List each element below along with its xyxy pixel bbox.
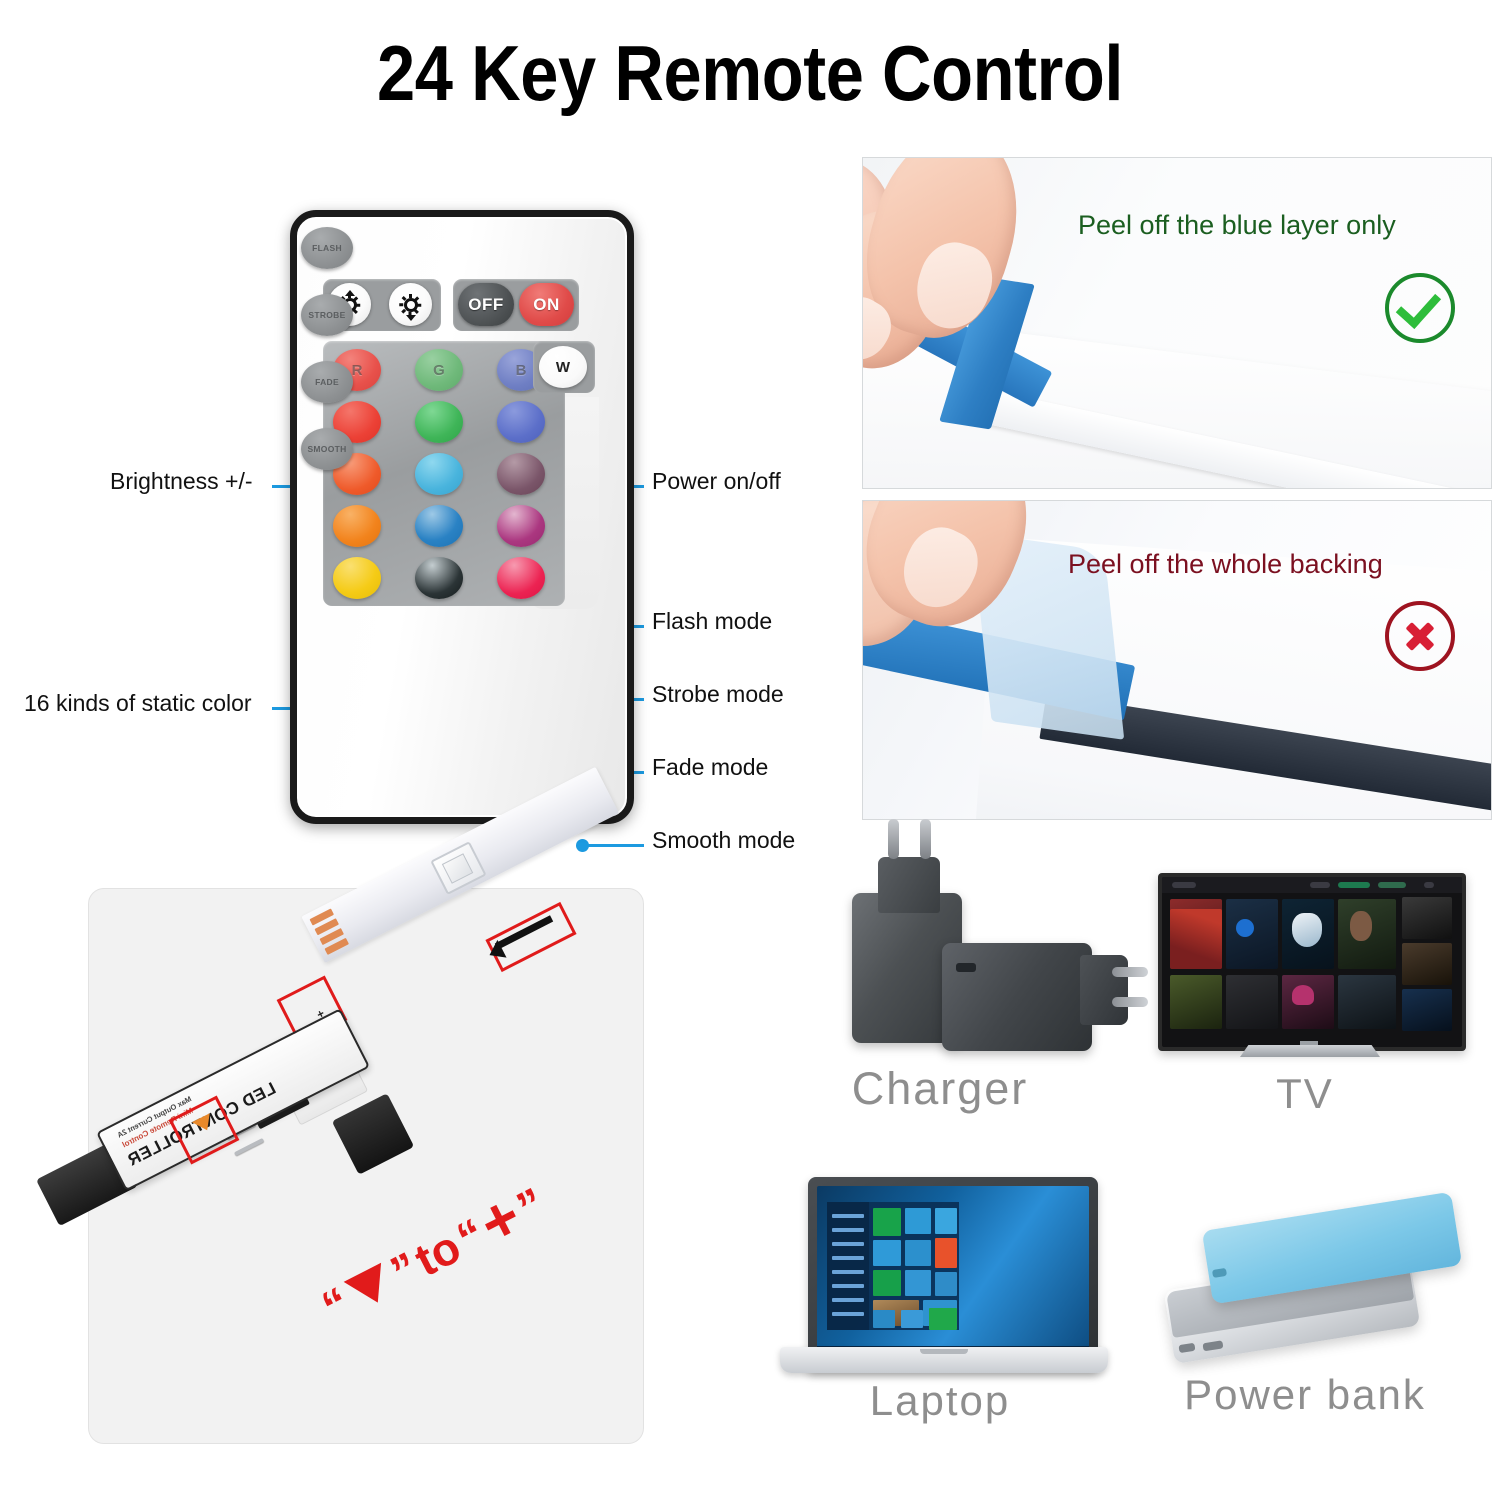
infographic-page: 24 Key Remote Control Brightness +/- 16 … — [0, 0, 1500, 1500]
strip-solder-pads — [309, 907, 350, 954]
device-laptop: Laptop — [760, 1165, 1120, 1430]
cross-icon — [1385, 601, 1455, 671]
charger-plug-head — [878, 857, 940, 913]
hand-icon — [862, 157, 1073, 438]
callout-line-smooth — [582, 844, 644, 847]
label-brightness: Brightness +/- — [110, 468, 253, 495]
strobe-mode-button[interactable]: STROBE — [301, 294, 353, 336]
peel-caption-2: Peel off the whole backing — [1068, 549, 1383, 580]
color-button-pink[interactable] — [497, 557, 545, 599]
flash-mode-button[interactable]: FLASH — [301, 227, 353, 269]
remote-control-section: Brightness +/- 16 kinds of static color … — [0, 150, 840, 850]
power-off-button[interactable]: OFF — [458, 283, 514, 326]
charger-prong — [920, 819, 931, 859]
controller-connector-head — [332, 1093, 414, 1175]
laptop-screen — [817, 1186, 1089, 1358]
highlight-box-arrow — [485, 902, 576, 972]
label-static-color: 16 kinds of static color — [24, 690, 252, 717]
color-button-green[interactable] — [415, 401, 463, 443]
tv-frame — [1158, 873, 1466, 1051]
laptop-lid — [808, 1177, 1098, 1372]
sun-down-icon — [400, 292, 422, 318]
controller-connection-panel: + G R B Max Output Current 2A Mini Remot… — [88, 888, 644, 1444]
charger-body-2 — [942, 943, 1092, 1051]
device-power-bank: Power bank — [1120, 1175, 1490, 1435]
tv-screen — [1162, 877, 1462, 1047]
color-button-g[interactable]: G — [415, 349, 463, 391]
peel-caption-1: Peel off the blue layer only — [1078, 210, 1396, 241]
color-button-blue[interactable] — [497, 401, 545, 443]
label-flash: Flash mode — [652, 608, 772, 635]
laptop-touchpad-notch — [920, 1349, 968, 1354]
device-tv: TV — [1120, 855, 1490, 1135]
device-charger: Charger — [760, 835, 1120, 1135]
page-title: 24 Key Remote Control — [90, 28, 1410, 119]
power-panel: OFF ON — [453, 279, 579, 331]
power-on-button[interactable]: ON — [519, 283, 574, 326]
color-button-plum[interactable] — [497, 453, 545, 495]
windows-start-menu — [827, 1202, 959, 1330]
color-button-w[interactable]: W — [539, 346, 587, 388]
color-button-yellow[interactable] — [333, 557, 381, 599]
label-strobe: Strobe mode — [652, 681, 784, 708]
color-grid-panel: R G B — [323, 341, 565, 606]
tv-stand — [1240, 1045, 1380, 1057]
peel-blue-layer-photo: Peel off the blue layer only — [862, 157, 1492, 489]
color-button-magenta[interactable] — [497, 505, 545, 547]
power-bank-label: Power bank — [1120, 1371, 1490, 1419]
charger-prong — [888, 819, 899, 859]
triangle-icon — [344, 1263, 397, 1312]
label-power: Power on/off — [652, 468, 781, 495]
color-button-medium-blue[interactable] — [415, 505, 463, 547]
peel-whole-backing-photo: Peel off the whole backing — [862, 500, 1492, 820]
color-button-dark[interactable] — [415, 557, 463, 599]
fade-mode-button[interactable]: FADE — [301, 361, 353, 403]
tv-label: TV — [1120, 1070, 1490, 1118]
brightness-down-button[interactable] — [389, 283, 432, 326]
laptop-label: Laptop — [760, 1377, 1120, 1425]
label-fade: Fade mode — [652, 754, 768, 781]
check-icon — [1385, 273, 1455, 343]
color-button-orange[interactable] — [333, 505, 381, 547]
color-button-light-blue[interactable] — [415, 453, 463, 495]
hand-icon — [862, 500, 1053, 716]
charger-usb-port — [956, 963, 976, 972]
white-button-shelf: W — [533, 341, 595, 393]
charger-label: Charger — [760, 1063, 1120, 1115]
led-chip — [430, 841, 486, 895]
remote-body: OFF ON R G B — [290, 210, 634, 824]
smooth-mode-button[interactable]: SMOOTH — [301, 428, 353, 470]
